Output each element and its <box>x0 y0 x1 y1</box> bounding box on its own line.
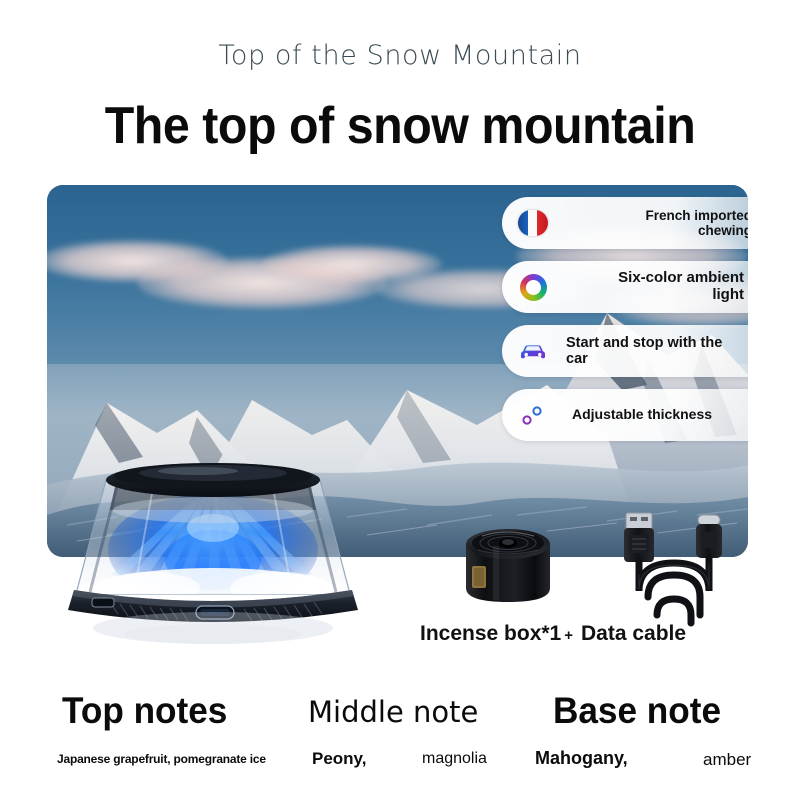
accessory-caption: Incense box*1 + Data cable <box>420 622 780 646</box>
car-icon <box>516 334 550 368</box>
feature-item-adjustable-thickness[interactable]: Adjustable thickness <box>502 389 748 441</box>
feature-label: French imported chewing <box>592 208 748 238</box>
feature-item-start-stop-with-car[interactable]: Start and stop with the car <box>502 325 748 377</box>
french-flag-icon <box>516 206 550 240</box>
sliders-icon <box>516 398 550 432</box>
feature-label: Six-color ambient light <box>594 270 744 304</box>
page-subtitle: Top of the Snow Mountain <box>0 40 800 71</box>
fragrance-notes-section: Top notes Middle note Base note Japanese… <box>0 690 800 800</box>
middle-note-detail-1: Peony, <box>312 749 366 769</box>
top-notes-heading: Top notes <box>62 690 227 732</box>
color-ring-icon <box>516 270 550 304</box>
feature-label: Start and stop with the car <box>566 335 738 367</box>
feature-item-french-imported[interactable]: French imported chewing <box>502 197 748 249</box>
data-cable-label: Data cable <box>581 622 686 646</box>
middle-note-detail-2: magnolia <box>422 750 487 768</box>
top-notes-detail: Japanese grapefruit, pomegranate ice <box>57 752 266 766</box>
diffuser-product-image <box>58 432 368 662</box>
base-note-detail-1: Mahogany, <box>535 748 628 769</box>
base-note-heading: Base note <box>553 690 721 732</box>
feature-label: Adjustable thickness <box>572 407 744 423</box>
incense-box-label: Incense box*1 <box>420 622 561 646</box>
incense-box-image <box>452 508 564 620</box>
middle-note-heading: Middle note <box>308 695 478 729</box>
plus-sign: + <box>563 627 579 644</box>
page-title: The top of snow mountain <box>28 96 772 156</box>
base-note-detail-2: amber <box>703 750 751 770</box>
data-cable-image <box>600 505 770 630</box>
feature-list: French imported chewing Six-color ambien… <box>502 197 748 441</box>
feature-item-six-color-light[interactable]: Six-color ambient light <box>502 261 748 313</box>
